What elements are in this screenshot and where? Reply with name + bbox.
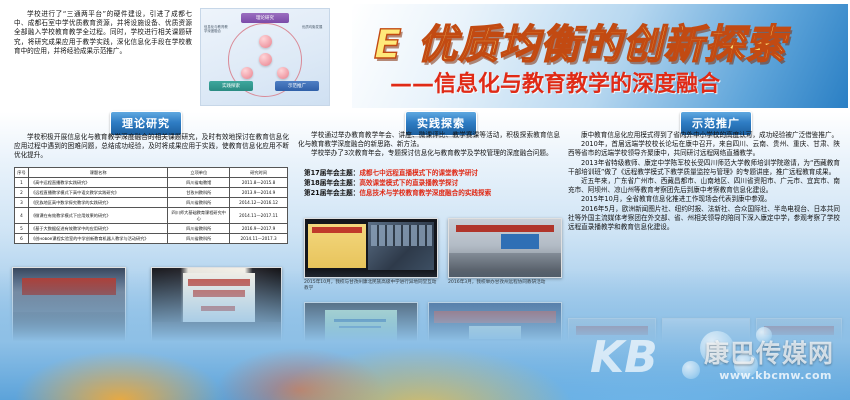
cell-unit: 四川省电教馆 bbox=[168, 178, 230, 188]
page-title: E 优质均衡的创新探索 bbox=[374, 12, 786, 70]
photo-principal-forum bbox=[568, 318, 656, 378]
table-row: 3 《民族地区高中数学探究教学的实践研究》 四川省教科所 2014.12—201… bbox=[15, 198, 288, 208]
left-body-paragraph: 学校积极开展信息化与教育教学深度融合的相关课题研究，及时有效地探讨在教育信息化应… bbox=[14, 133, 289, 161]
right-para-6: 2016年5月，欧洲新闻图片社、纽约时报、法新社、合众国际社、半岛电视台、日本共… bbox=[568, 205, 840, 233]
cell-title: 《创новое课程实验室的中学创新教育机器人教学与活动研究》 bbox=[28, 234, 167, 244]
middle-paragraphs: 学校通过举办教育教学年会、讲座、微课评比、教学赛课等活动，积极探索教育信息化与教… bbox=[298, 131, 560, 159]
cell-unit: 四川省教科所 bbox=[168, 234, 230, 244]
cell-period: 2014.12—2016.12 bbox=[230, 198, 288, 208]
photo-caption-principal-forum: 远端学校校长论坛 bbox=[568, 379, 656, 385]
annual-meeting-list: 第17届年会主题：成都七中远程直播模式下的课堂教学研讨 第18届年会主题：高效课… bbox=[304, 168, 562, 198]
diagram-node-c bbox=[241, 67, 253, 79]
left-intro-text: 学校进行了“三通两平台”的硬件建设，引进了成都七中、成都石室中学优质教育资源，并… bbox=[14, 10, 192, 56]
right-para-5: 2015年10月，全省教育信息化推进工作现场会代表到康中参观。 bbox=[568, 195, 840, 204]
annual-meeting-item: 第21届年会主题：信息技术与学校教育教学深度融合的实践探索 bbox=[304, 188, 562, 198]
photo-opening-ceremony bbox=[12, 267, 126, 349]
annual-meeting-item: 第17届年会主题：成都七中远程直播模式下的课堂教学研讨 bbox=[304, 168, 562, 178]
meeting-topic-17: 成都七中远程直播模式下的课堂教学研讨 bbox=[359, 169, 478, 177]
diagram-label-practice: 实践探索 bbox=[209, 81, 253, 91]
cell-title: 《微课在有效教学模式下应用效果的研究》 bbox=[28, 208, 167, 224]
photo-caption-opening-ceremony: 《高中远程直播教学实践研究》 开题报告会现场 bbox=[12, 351, 126, 364]
cell-index: 6 bbox=[15, 234, 29, 244]
cell-index: 1 bbox=[15, 178, 29, 188]
table-body: 1 《高中远程直播教学实践研究》 四川省电教馆 2011.8—2015.8 2 … bbox=[15, 178, 288, 244]
table-row: 1 《高中远程直播教学实践研究》 四川省电教馆 2011.8—2015.8 bbox=[15, 178, 288, 188]
table-row: 4 《微课在有效教学模式下应用效果的研究》 四川师大基础教育课程研究中心 201… bbox=[15, 208, 288, 224]
col-period: 研究时间 bbox=[230, 168, 288, 178]
table-header-row: 序号 课题名称 立项单位 研究时间 bbox=[15, 168, 288, 178]
annual-meeting-item: 第18届年会主题：高效课堂模式下的直录播教学探讨 bbox=[304, 178, 562, 188]
cell-index: 3 bbox=[15, 198, 29, 208]
meeting-label-21: 第21届年会主题： bbox=[304, 189, 359, 197]
cell-period: 2014.11—2017.3 bbox=[230, 234, 288, 244]
middle-para-2: 学校举办了3次教育年会，专题探讨信息化与教育教学及学校管理的深度融合问题。 bbox=[298, 149, 560, 158]
diagram-side-label-right: 优质均衡发展 bbox=[302, 25, 328, 29]
photo-lecture-microclass bbox=[304, 302, 418, 364]
photo-delegation-visit bbox=[756, 318, 842, 378]
photo-caption-remote-interactive-class: 2015年10月，我校与甘孜州康北民族高级中学进行异地同堂互动教学 bbox=[304, 280, 438, 293]
diagram-node-a bbox=[259, 35, 272, 48]
diagram-label-promotion: 示范推广 bbox=[275, 81, 319, 91]
poster-page: E 优质均衡的创新探索 ——信息化与教育教学的深度融合 理论研究 实践探索 示范… bbox=[0, 0, 850, 400]
cell-title: 《民族地区高中数学探究教学的实践研究》 bbox=[28, 198, 167, 208]
photo-caption-teacher-contest: 教育信息化主题的全校教师赛课活动 bbox=[428, 366, 562, 372]
cell-index: 5 bbox=[15, 224, 29, 234]
page-subtitle: ——信息化与教育教学的深度融合 bbox=[390, 66, 720, 98]
right-para-4: 近五年来，广东省广州市、西藏昌都市、山南地区、四川省资阳市、广元市、宜宾市、南充… bbox=[568, 177, 840, 195]
poster-header: E 优质均衡的创新探索 ——信息化与教育教学的深度融合 bbox=[352, 4, 848, 108]
cell-unit: 四川省教科所 bbox=[168, 224, 230, 234]
left-body-text: 学校积极开展信息化与教育教学深度融合的相关课题研究，及时有效地探讨在教育信息化应… bbox=[14, 133, 289, 161]
meeting-topic-21: 信息技术与学校教育教学深度融合的实践探索 bbox=[359, 189, 491, 197]
photo-caption-collaborative-research: 2016年3月，我校举办甘孜州远程协同教研活动 bbox=[448, 280, 562, 286]
cell-index: 2 bbox=[15, 188, 29, 198]
cell-unit: 甘孜州教科所 bbox=[168, 188, 230, 198]
research-projects-table: 序号 课题名称 立项单位 研究时间 1 《高中远程直播教学实践研究》 四川省电教… bbox=[14, 167, 288, 244]
cell-unit: 四川省教科所 bbox=[168, 198, 230, 208]
cell-title: 《远程直播教学模式下高中语文教学实践研究》 bbox=[28, 188, 167, 198]
diagram-node-b bbox=[259, 53, 272, 66]
meeting-label-17: 第17届年会主题： bbox=[304, 169, 359, 177]
meeting-topic-18: 高效课堂模式下的直录播教学探讨 bbox=[359, 179, 458, 187]
cell-period: 2016.9—2017.9 bbox=[230, 224, 288, 234]
photo-collaborative-research bbox=[448, 218, 562, 278]
table-row: 5 《基于大数据促进有效教学中的应用研究》 四川省教科所 2016.9—2017… bbox=[15, 224, 288, 234]
cell-unit: 四川师大基础教育课程研究中心 bbox=[168, 208, 230, 224]
right-para-1: 康中教育信息化应用模式得到了省内外中小学校的高度认可，成功经验被广泛借鉴推广。 bbox=[568, 131, 840, 140]
right-para-3: 2013年省特级教师、康定中学陈军校长受四川师范大学教师培训学院邀请，为“西藏教… bbox=[568, 159, 840, 177]
col-unit: 立项单位 bbox=[168, 168, 230, 178]
cell-index: 4 bbox=[15, 208, 29, 224]
photo-teacher-contest bbox=[428, 302, 562, 364]
middle-para-1: 学校通过举办教育教学年会、讲座、微课评比、教学赛课等活动，积极探索教育信息化与教… bbox=[298, 131, 560, 149]
cell-title: 《高中远程直播教学实践研究》 bbox=[28, 178, 167, 188]
cell-period: 2013.9—2014.9 bbox=[230, 188, 288, 198]
col-title: 课题名称 bbox=[28, 168, 167, 178]
table-row: 2 《远程直播教学模式下高中语文教学实践研究》 甘孜州教科所 2013.9—20… bbox=[15, 188, 288, 198]
concept-diagram: 理论研究 实践探索 示范推广 信息化与教育教学深度融合 优质均衡发展 bbox=[200, 8, 330, 106]
right-para-2: 2010年，首届远端学校校长论坛在康中召开，来自四川、云南、贵州、重庆、甘肃、陕… bbox=[568, 140, 840, 158]
diagram-node-d bbox=[277, 67, 289, 79]
meeting-label-18: 第18届年会主题： bbox=[304, 179, 359, 187]
photo-foreign-media-visit bbox=[662, 318, 750, 378]
right-paragraphs: 康中教育信息化应用模式得到了省内外中小学校的高度认可，成功经验被广泛借鉴推广。 … bbox=[568, 131, 840, 232]
left-intro-paragraph: 学校进行了“三通两平台”的硬件建设，引进了成都七中、成都石室中学优质教育资源，并… bbox=[14, 10, 192, 56]
photo-online-class-seminar bbox=[151, 267, 282, 349]
photo-caption-delegation-visit: 教育考察团参观交流 bbox=[756, 379, 842, 385]
cell-period: 2011.8—2015.8 bbox=[230, 178, 288, 188]
cell-period: 2014.11—2017.11 bbox=[230, 208, 288, 224]
diagram-side-label-left: 信息化与教育教学深度融合 bbox=[204, 25, 230, 33]
photo-caption-foreign-media-visit: 外国主流媒体考察团到校考察 bbox=[662, 379, 750, 385]
photo-remote-interactive-class bbox=[304, 218, 438, 278]
col-index: 序号 bbox=[15, 168, 29, 178]
table-row: 6 《创новое课程实验室的中学创新教育机器人教学与活动研究》 四川省教科所 … bbox=[15, 234, 288, 244]
cell-title: 《基于大数据促进有效教学中的应用研究》 bbox=[28, 224, 167, 234]
diagram-label-theory: 理论研究 bbox=[241, 13, 289, 23]
photo-caption-lecture-microclass: 2014年9月，周云老师作《新转九教学模式——微课课堂》讲座 bbox=[304, 366, 418, 379]
photo-caption-online-class-seminar: 网课教学研讨会 bbox=[151, 351, 282, 357]
